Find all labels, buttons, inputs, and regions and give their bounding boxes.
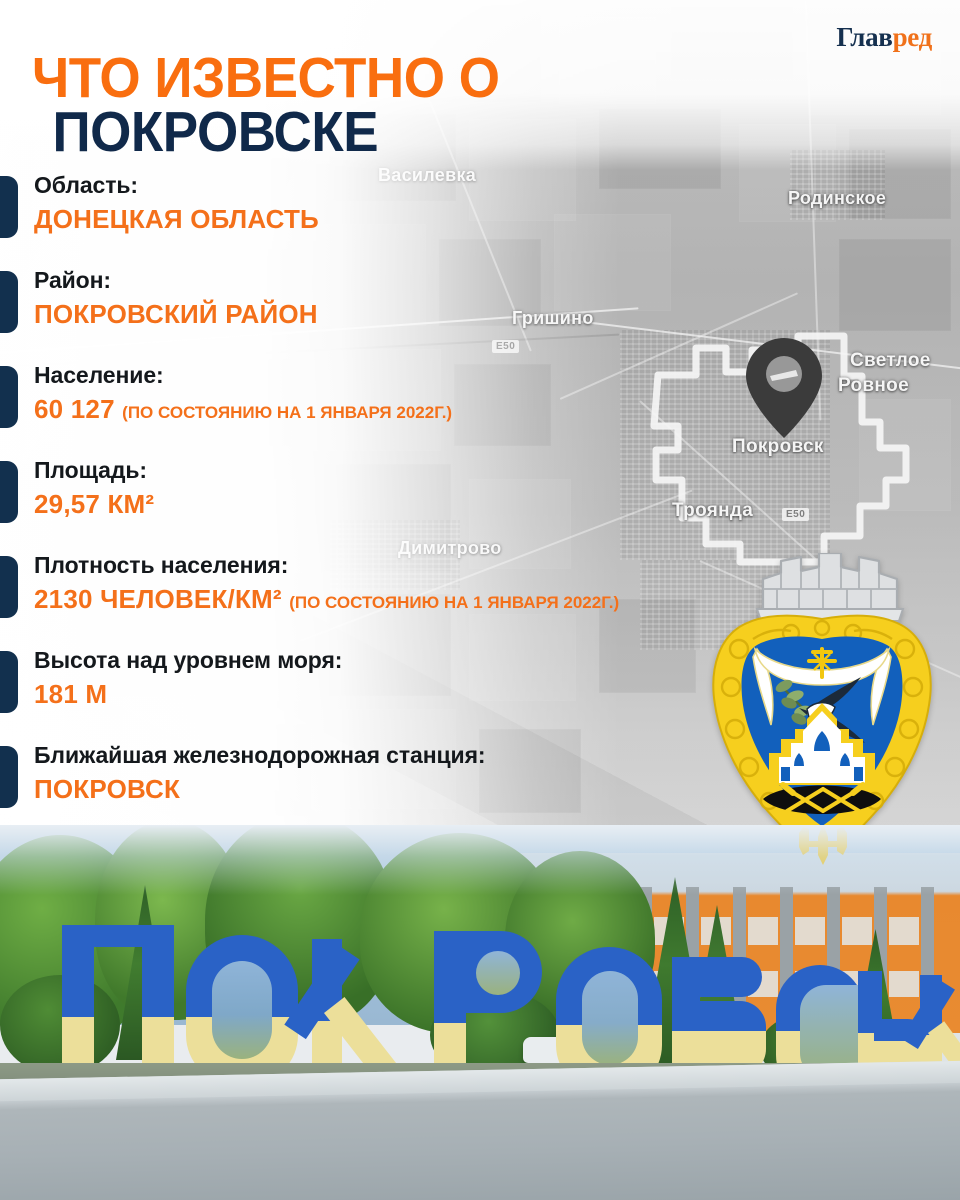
title-line-1: ЧТО ИЗВЕСТНО О [32, 52, 627, 106]
fact-label: Плотность населения: [34, 552, 288, 579]
fact-value-text: 2130 ЧЕЛОВЕК/КМ² [34, 584, 282, 614]
bullet-marker [0, 556, 18, 618]
glavred-logo[interactable]: Главред [836, 24, 932, 51]
fact-label: Ближайшая железнодорожная станция: [34, 742, 485, 769]
fact-label: Район: [34, 267, 111, 294]
fact-row-raion: Район: ПОКРОВСКИЙ РАЙОН [0, 265, 760, 360]
fact-value: 181 М [34, 679, 107, 710]
bullet-marker [0, 271, 18, 333]
fact-list: Область: ДОНЕЦКАЯ ОБЛАСТЬ Район: ПОКРОВС… [0, 170, 760, 835]
fact-row-density: Плотность населения: 2130 ЧЕЛОВЕК/КМ² (П… [0, 550, 760, 645]
map-label: Ровное [838, 375, 909, 397]
infographic-root: Василевка Родинское Гришино Светлое Ровн… [0, 0, 960, 1200]
letter-P [62, 925, 174, 1083]
fact-note: (ПО СОСТОЯНИЮ НА 1 ЯНВАРЯ 2022Г.) [122, 403, 452, 422]
bullet-marker [0, 461, 18, 523]
fact-label: Область: [34, 172, 138, 199]
fact-value-text: 181 М [34, 679, 107, 709]
fact-value-text: 29,57 КМ² [34, 489, 154, 519]
fact-note: (ПО СОСТОЯНИЮ НА 1 ЯНВАРЯ 2022Г.) [289, 593, 619, 612]
logo-text-primary: Глав [836, 22, 892, 52]
fact-value: ПОКРОВСК [34, 774, 180, 805]
coat-of-arms-pokrovsk [695, 553, 950, 863]
fact-value-text: 60 127 [34, 394, 115, 424]
fact-row-population: Население: 60 127 (ПО СОСТОЯНИЮ НА 1 ЯНВ… [0, 360, 760, 455]
bullet-marker [0, 746, 18, 808]
fact-row-railway-station: Ближайшая железнодорожная станция: ПОКРО… [0, 740, 760, 835]
blue-shield [742, 637, 903, 826]
fact-label: Население: [34, 362, 164, 389]
fact-value: 60 127 (ПО СОСТОЯНИЮ НА 1 ЯНВАРЯ 2022Г.) [34, 394, 452, 425]
city-entrance-photo [0, 825, 960, 1200]
photo-top-fade [0, 825, 960, 895]
fact-row-area: Площадь: 29,57 КМ² [0, 455, 760, 550]
fact-value-text: ДОНЕЦКАЯ ОБЛАСТЬ [34, 204, 319, 234]
map-label: Светлое [850, 350, 931, 372]
fact-value: 2130 ЧЕЛОВЕК/КМ² (ПО СОСТОЯНИЮ НА 1 ЯНВА… [34, 584, 619, 615]
fact-value: ДОНЕЦКАЯ ОБЛАСТЬ [34, 204, 319, 235]
title-line-2: ПОКРОВСКЕ [32, 106, 627, 160]
fact-value: 29,57 КМ² [34, 489, 154, 520]
fact-value: ПОКРОВСКИЙ РАЙОН [34, 299, 318, 330]
fact-label: Площадь: [34, 457, 147, 484]
bullet-marker [0, 176, 18, 238]
logo-text-accent: ред [893, 22, 932, 52]
page-title: ЧТО ИЗВЕСТНО О ПОКРОВСКЕ [32, 52, 627, 159]
fact-value-text: ПОКРОВСК [34, 774, 180, 804]
fact-label: Высота над уровнем моря: [34, 647, 342, 674]
bullet-marker [0, 651, 18, 713]
fact-row-oblast: Область: ДОНЕЦКАЯ ОБЛАСТЬ [0, 170, 760, 265]
fact-value-text: ПОКРОВСКИЙ РАЙОН [34, 299, 318, 329]
map-label: Родинское [788, 188, 886, 209]
fact-row-elevation: Высота над уровнем моря: 181 М [0, 645, 760, 740]
mural-crown-icon [757, 553, 903, 621]
bullet-marker [0, 366, 18, 428]
road-badge-e50: E50 [782, 508, 809, 521]
